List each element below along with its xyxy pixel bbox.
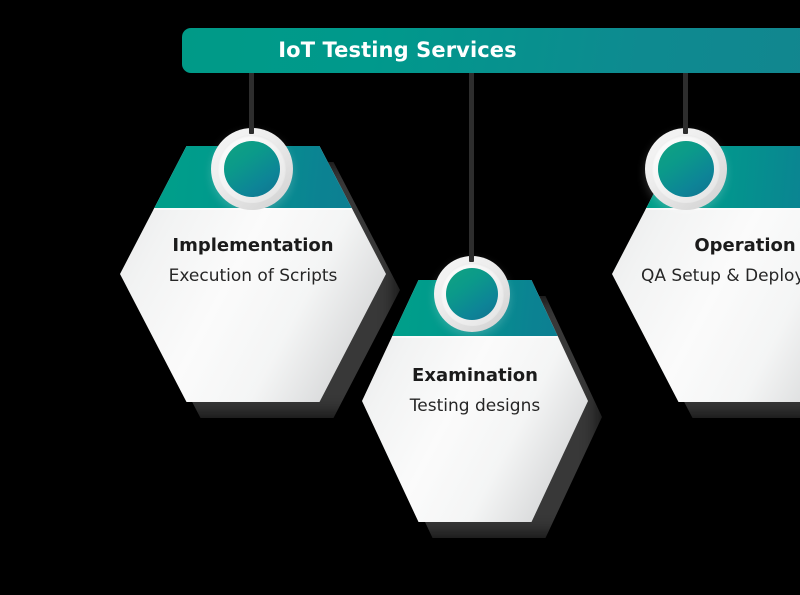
circle-badge-icon-operation[interactable] xyxy=(645,128,727,210)
connector-line-examination xyxy=(469,66,474,262)
page-title: IoT Testing Services xyxy=(0,28,795,73)
connector-line-implementation xyxy=(249,66,254,134)
connector-line-operation xyxy=(683,66,688,134)
circle-badge-icon-implementation[interactable] xyxy=(211,128,293,210)
infographic-canvas: Implementation Execution of Scripts Oper… xyxy=(0,0,800,595)
circle-badge-icon-examination[interactable] xyxy=(434,256,510,332)
